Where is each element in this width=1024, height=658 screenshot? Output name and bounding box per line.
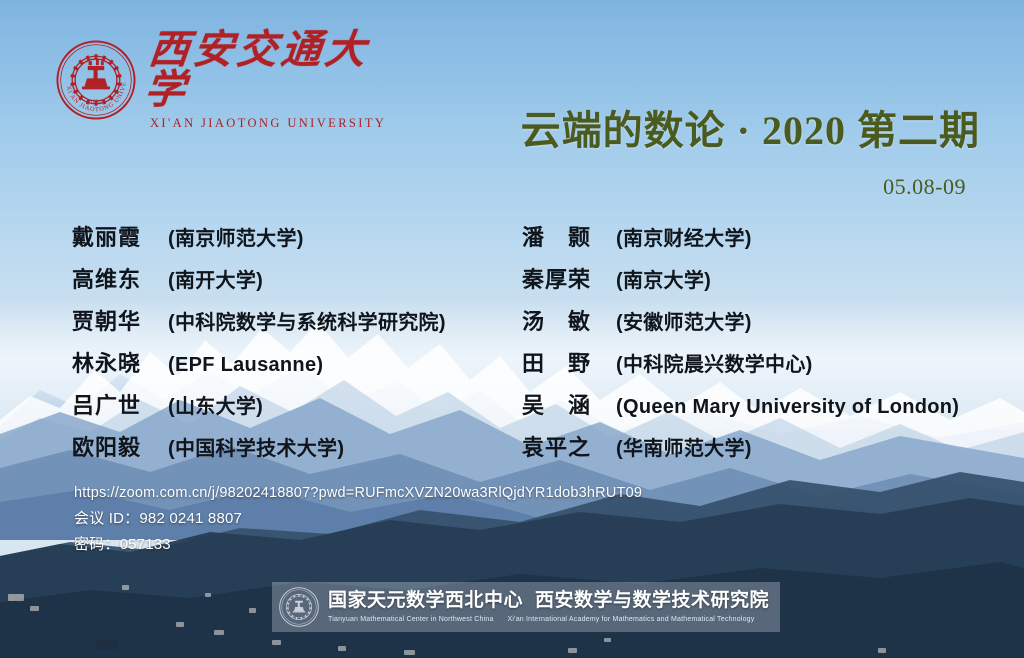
speaker-name: 高维东 [72, 262, 168, 294]
speaker-affiliation: (中科院数学与系统科学研究院) [168, 306, 446, 335]
speaker-affiliation: (南京师范大学) [168, 222, 304, 251]
scenery-speck [122, 585, 129, 590]
scenery-speck [214, 630, 224, 635]
speaker-name: 秦厚荣 [522, 262, 616, 294]
svg-text:1896: 1896 [90, 99, 102, 105]
scenery-speck [96, 640, 118, 650]
xjtu-seal-icon: 1896 XI'AN JIAOTONG UNIVERSITY [55, 39, 137, 121]
speaker-item: 欧阳毅 (中国科学技术大学) [72, 430, 522, 472]
banner-title-academy-en: Xi'an International Academy for Mathemat… [508, 615, 755, 624]
speaker-item: 吕广世 (山东大学) [72, 388, 522, 430]
scenery-speck [404, 650, 415, 655]
speaker-name: 欧阳毅 [72, 430, 168, 462]
speaker-name: 田 野 [522, 346, 616, 378]
speaker-item: 林永晓 (EPF Lausanne) [72, 346, 522, 388]
speaker-name: 潘 颢 [522, 220, 616, 252]
meeting-id: 会议 ID：982 0241 8807 [74, 506, 642, 532]
speaker-name: 袁平之 [522, 430, 616, 462]
speaker-name: 贾朝华 [72, 304, 168, 336]
scenery-speck [249, 608, 256, 613]
banner-title-academy-cn: 西安数学与数学技术研究院 [535, 590, 769, 612]
poster-date: 05.08-09 [883, 174, 966, 200]
speaker-name: 汤 敏 [522, 304, 616, 336]
speaker-item: 贾朝华 (中科院数学与系统科学研究院) [72, 304, 522, 346]
scenery-speck [205, 593, 211, 597]
scenery-speck [272, 640, 281, 645]
speaker-column-left: 戴丽霞 (南京师范大学) 高维东 (南开大学) 贾朝华 (中科院数学与系统科学研… [72, 220, 522, 472]
speaker-item: 秦厚荣 (南京大学) [522, 262, 992, 304]
speaker-name: 吴 涵 [522, 388, 616, 420]
speaker-item: 潘 颢 (南京财经大学) [522, 220, 992, 262]
speaker-item: 袁平之 (华南师范大学) [522, 430, 992, 472]
speaker-item: 戴丽霞 (南京师范大学) [72, 220, 522, 262]
tianyuan-seal-icon [278, 586, 320, 628]
scenery-speck [878, 648, 886, 653]
university-name-en: XI'AN JIAOTONG UNIVERSITY [150, 116, 386, 131]
speaker-affiliation: (中国科学技术大学) [168, 432, 344, 461]
university-logo: 1896 XI'AN JIAOTONG UNIVERSITY 西安交通大学 XI… [55, 30, 355, 130]
university-name-cn: 西安交通大学 [143, 30, 391, 110]
meeting-password: 密码：057133 [74, 532, 642, 558]
speaker-affiliation: (山东大学) [168, 390, 263, 419]
banner-title-tianyuan-en: Tianyuan Mathematical Center in Northwes… [328, 615, 494, 624]
speaker-affiliation: (安徽师范大学) [616, 306, 752, 335]
speaker-item: 高维东 (南开大学) [72, 262, 522, 304]
speaker-column-right: 潘 颢 (南京财经大学) 秦厚荣 (南京大学) 汤 敏 (安徽师范大学) 田 野… [522, 220, 992, 472]
sponsor-banner: 国家天元数学西北中心 西安数学与数学技术研究院 Tianyuan Mathema… [272, 582, 780, 632]
speaker-affiliation: (EPF Lausanne) [168, 354, 323, 377]
banner-titles-cn: 国家天元数学西北中心 西安数学与数学技术研究院 [328, 590, 769, 612]
speaker-list: 戴丽霞 (南京师范大学) 高维东 (南开大学) 贾朝华 (中科院数学与系统科学研… [0, 220, 1024, 472]
scenery-speck [568, 648, 577, 653]
poster-title: 云端的数论 · 2020 第二期 [521, 98, 980, 156]
scenery-speck [8, 594, 24, 601]
scenery-speck [30, 606, 39, 611]
meeting-url[interactable]: https://zoom.com.cn/j/98202418807?pwd=RU… [74, 480, 642, 506]
banner-titles-en: Tianyuan Mathematical Center in Northwes… [328, 615, 769, 624]
speaker-affiliation: (南开大学) [168, 264, 263, 293]
speaker-affiliation: (Queen Mary University of London) [616, 396, 959, 419]
speaker-affiliation: (中科院晨兴数学中心) [616, 348, 813, 377]
speaker-name: 戴丽霞 [72, 220, 168, 252]
speaker-affiliation: (南京财经大学) [616, 222, 752, 251]
scenery-speck [338, 646, 346, 651]
conference-poster: 1896 XI'AN JIAOTONG UNIVERSITY 西安交通大学 XI… [0, 0, 1024, 658]
speaker-affiliation: (华南师范大学) [616, 432, 752, 461]
meeting-info: https://zoom.com.cn/j/98202418807?pwd=RU… [74, 480, 642, 558]
banner-title-tianyuan-cn: 国家天元数学西北中心 [328, 590, 523, 612]
speaker-item: 吴 涵 (Queen Mary University of London) [522, 388, 992, 430]
speaker-name: 吕广世 [72, 388, 168, 420]
speaker-item: 汤 敏 (安徽师范大学) [522, 304, 992, 346]
speaker-item: 田 野 (中科院晨兴数学中心) [522, 346, 992, 388]
scenery-speck [604, 638, 611, 642]
speaker-affiliation: (南京大学) [616, 264, 711, 293]
scenery-speck [176, 622, 184, 627]
speaker-name: 林永晓 [72, 346, 168, 378]
